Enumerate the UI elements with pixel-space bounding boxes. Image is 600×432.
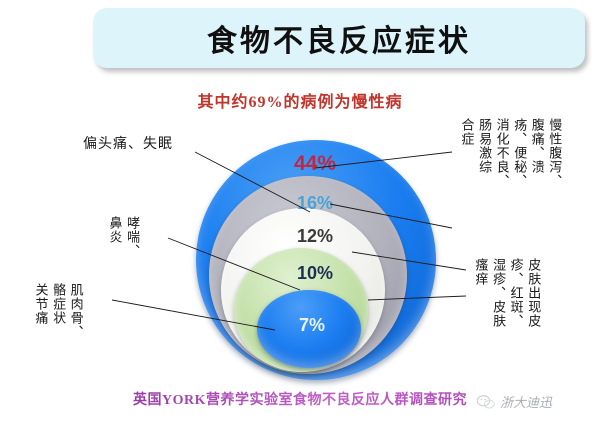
label-migraine: 偏头痛、失眠	[83, 133, 173, 153]
label-gastrointestinal: 慢性腹泻、 腹痛、溃 疡、便秘、 消化不良、 肠易激综 合症	[456, 118, 561, 188]
leader-line-gastrointestinal	[315, 152, 452, 168]
watermark: 浙大迪迅	[476, 392, 552, 411]
leader-line-migraine	[195, 152, 310, 212]
watermark-text: 浙大迪迅	[500, 392, 552, 411]
leader-line-gastrointestinal-2	[330, 204, 452, 228]
label-musculoskeletal-col-3: 关节痛	[33, 283, 48, 339]
label-gi-col-1: 慢性腹泻、	[547, 118, 562, 188]
label-skin-col-4: 瘙痒	[473, 258, 488, 328]
leader-line-skin	[352, 252, 466, 270]
leader-line-skin-2	[368, 296, 466, 300]
label-gi-col-4: 消化不良、	[494, 118, 509, 188]
label-skin: 皮肤出现皮 疹、红斑、 湿疹、皮肤 瘙痒	[470, 258, 540, 328]
label-skin-col-2: 疹、红斑、	[508, 258, 523, 328]
label-respiratory-col-1: 哮喘、	[125, 216, 140, 258]
label-musculoskeletal-col-2: 骼症状	[51, 283, 66, 339]
leader-line-musculoskeletal	[112, 300, 275, 330]
label-gi-col-5: 肠易激综	[477, 118, 492, 188]
label-musculoskeletal: 肌肉骨、 骼症状 关节痛	[30, 283, 83, 339]
label-gi-col-6: 合症	[459, 118, 474, 188]
label-gi-col-3: 疡、便秘、	[512, 118, 527, 188]
label-respiratory: 哮喘、 鼻炎	[104, 216, 139, 258]
label-gi-col-2: 腹痛、溃	[529, 118, 544, 188]
label-musculoskeletal-col-1: 肌肉骨、	[68, 283, 83, 339]
leader-line-respiratory	[168, 238, 300, 290]
leader-lines	[0, 0, 600, 432]
wechat-icon	[476, 394, 496, 410]
label-respiratory-col-2: 鼻炎	[107, 216, 122, 258]
label-skin-col-1: 皮肤出现皮	[526, 258, 541, 328]
label-skin-col-3: 湿疹、皮肤	[491, 258, 506, 328]
